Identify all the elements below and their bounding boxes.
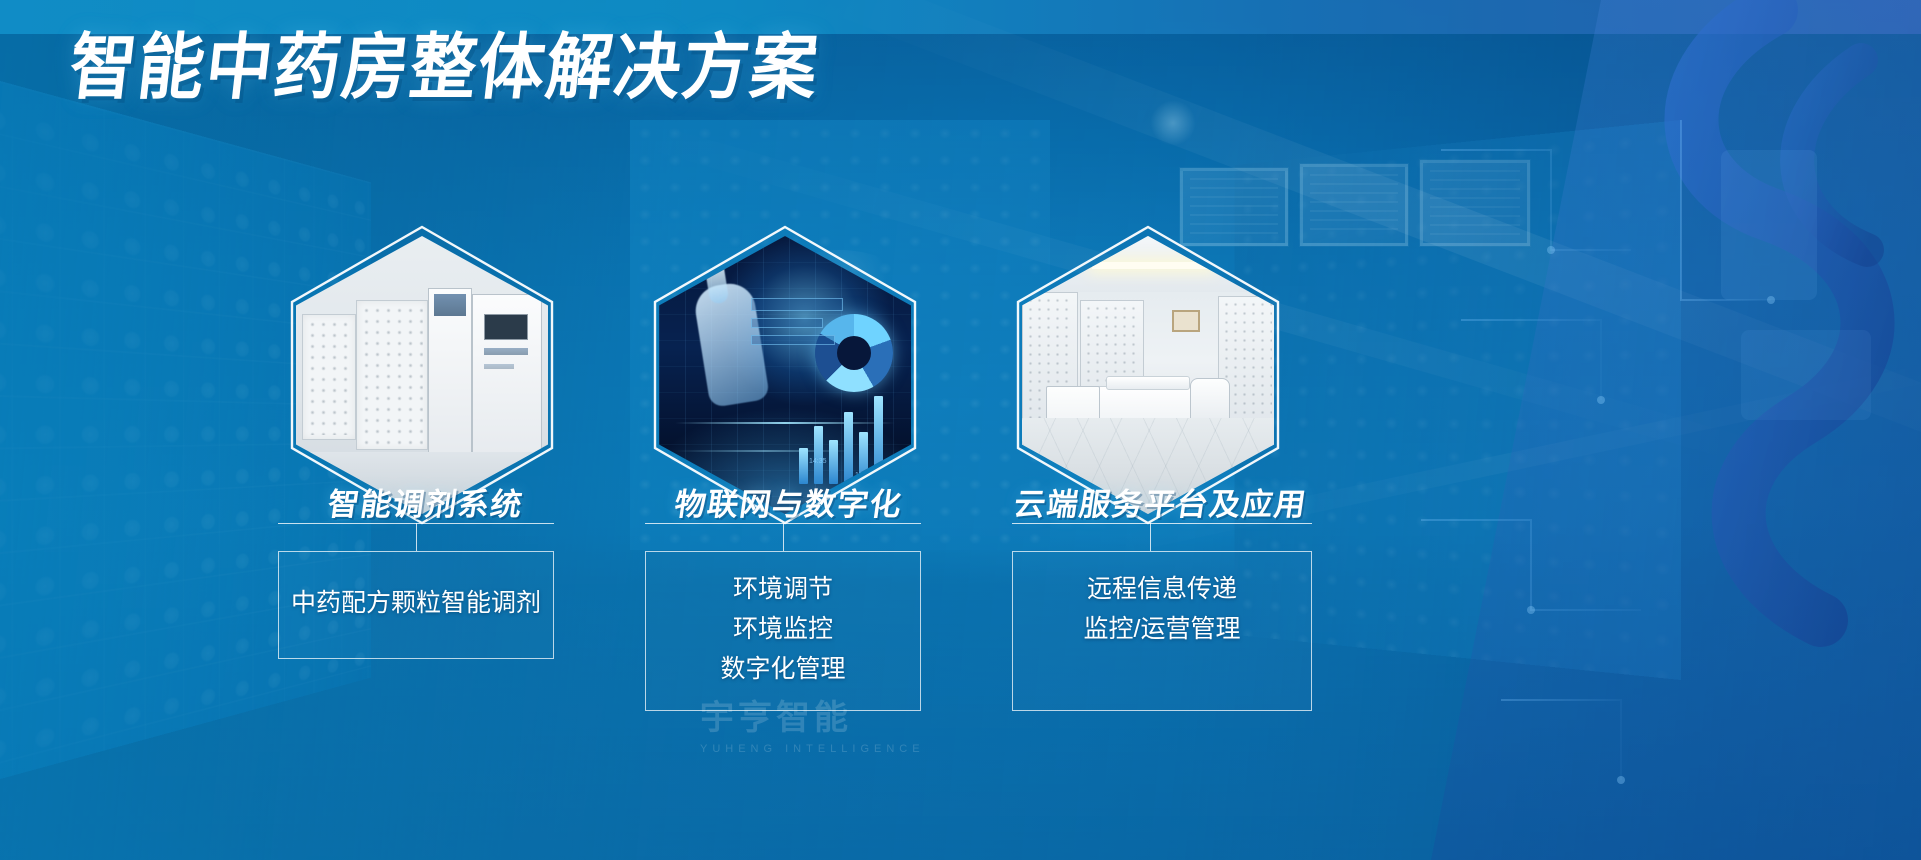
list-item: 环境监控	[645, 609, 921, 649]
feature-list-cloud-service-platform: 远程信息传递 监控/运营管理	[1012, 551, 1312, 649]
list-item: 远程信息传递	[1012, 569, 1312, 609]
feature-list-intelligent-dispensing: 中药配方颗粒智能调剂	[278, 551, 554, 623]
poster-canvas: 智能中药房整体解决方案	[0, 0, 1921, 860]
list-item: 监控/运营管理	[1012, 609, 1312, 649]
connector-stem	[416, 523, 417, 551]
feature-list-iot-digitalization: 环境调节 环境监控 数字化管理	[645, 551, 921, 689]
hex-card-iot-digitalization[interactable]: 14:35 18:20	[659, 236, 911, 514]
connector-stem	[783, 523, 784, 551]
column-title-iot-digitalization: 物联网与数字化	[666, 479, 912, 524]
hex-card-cloud-service-platform[interactable]	[1022, 236, 1274, 514]
page-title: 智能中药房整体解决方案	[66, 32, 823, 104]
list-item: 数字化管理	[645, 649, 921, 689]
list-item: 环境调节	[645, 569, 921, 609]
connector-stem	[1150, 523, 1151, 551]
column-title-cloud-service-platform: 云端服务平台及应用	[999, 479, 1323, 524]
column-title-intelligent-dispensing: 智能调剂系统	[303, 479, 549, 524]
title-underline	[1012, 523, 1312, 524]
hex-card-intelligent-dispensing[interactable]	[296, 236, 548, 514]
